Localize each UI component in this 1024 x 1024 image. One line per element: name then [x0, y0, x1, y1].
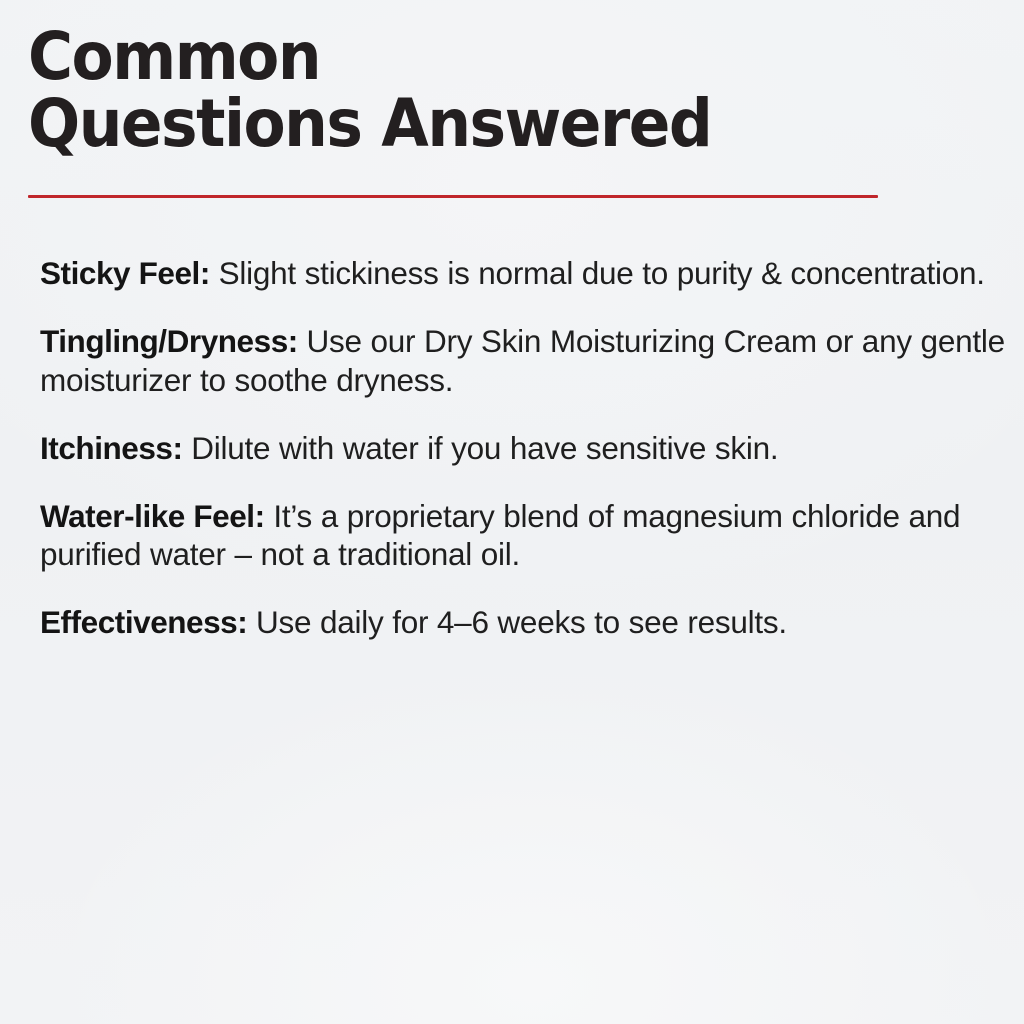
- faq-list: Sticky Feel: Slight stickiness is normal…: [40, 254, 1015, 642]
- faq-answer: Use daily for 4–6 weeks to see results.: [247, 604, 787, 640]
- page-title-line-2: Questions Answered: [28, 93, 921, 156]
- faq-card: Common Questions Answered Sticky Feel: S…: [0, 0, 1024, 1024]
- faq-answer: Slight stickiness is normal due to purit…: [210, 255, 985, 291]
- faq-item-sticky-feel: Sticky Feel: Slight stickiness is normal…: [40, 254, 1015, 293]
- faq-label: Water-like Feel:: [40, 498, 265, 534]
- faq-item-tingling-dryness: Tingling/Dryness: Use our Dry Skin Moist…: [40, 322, 1015, 400]
- title-divider-rule: [28, 195, 878, 198]
- faq-answer: Dilute with water if you have sensitive …: [183, 430, 779, 466]
- faq-item-itchiness: Itchiness: Dilute with water if you have…: [40, 429, 1015, 468]
- faq-item-effectiveness: Effectiveness: Use daily for 4–6 weeks t…: [40, 603, 1015, 642]
- page-title: Common Questions Answered: [28, 26, 988, 155]
- faq-label: Sticky Feel:: [40, 255, 210, 291]
- faq-item-water-like-feel: Water-like Feel: It’s a proprietary blen…: [40, 497, 1015, 575]
- page-title-line-1: Common: [28, 26, 921, 89]
- faq-label: Effectiveness:: [40, 604, 247, 640]
- faq-label: Tingling/Dryness:: [40, 323, 298, 359]
- faq-label: Itchiness:: [40, 430, 183, 466]
